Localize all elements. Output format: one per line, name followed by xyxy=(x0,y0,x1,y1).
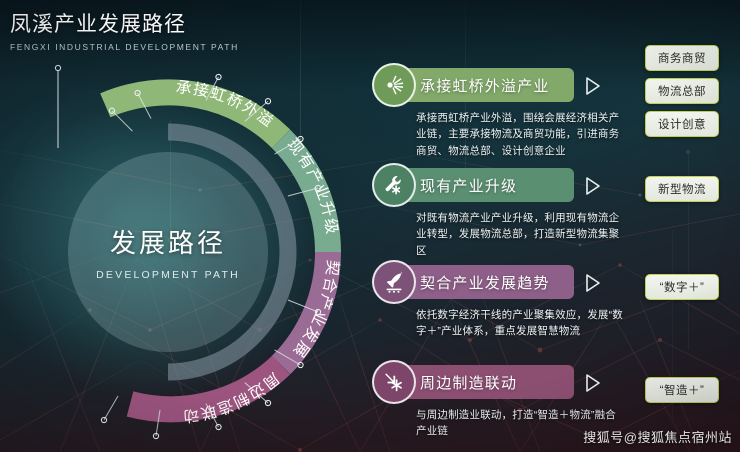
card-title-0: 承接虹桥外溢产业 xyxy=(420,75,550,96)
tag-new-logistics[interactable]: 新型物流 xyxy=(645,176,719,202)
wrench-gear-icon xyxy=(372,163,416,207)
tag-logistics-hq[interactable]: 物流总部 xyxy=(645,78,719,104)
card-header-2[interactable]: 契合产业发展趋势 xyxy=(378,265,574,299)
center-subtitle: DEVELOPMENT PATH xyxy=(96,269,240,281)
card-existing-industry-upgrade[interactable]: 现有产业升级 对既有物流产业产业升级，利用现有物流企业转型，发展物流总部，打造新… xyxy=(378,168,624,259)
card-header-1[interactable]: 现有产业升级 xyxy=(378,168,574,202)
card-title-1: 现有产业升级 xyxy=(420,175,517,196)
card-title-3: 周边制造联动 xyxy=(420,372,517,393)
tag-business-trade[interactable]: 商务商贸 xyxy=(645,45,719,71)
card-industry-trend-alignment[interactable]: 契合产业发展趋势 依托数字经济干线的产业聚集效应，发展“数字＋”产业体系，重点发… xyxy=(378,265,624,340)
center-title: 发展路径 xyxy=(110,223,226,260)
card-body-0: 承接西虹桥产业外溢，围绕会展经济相关产业链，主要承接物流及商贸功能，引进商务商贸… xyxy=(416,110,624,159)
card-header-0[interactable]: 承接虹桥外溢产业 xyxy=(378,68,574,102)
card-body-1: 对既有物流产业产业升级，利用现有物流企业转型，发展物流总部，打造新型物流集聚区 xyxy=(416,210,624,259)
tag-design-creative[interactable]: 设计创意 xyxy=(645,111,719,137)
watermark: 搜狐号@搜狐焦点宿州站 xyxy=(583,427,732,446)
infographic-canvas: 凤溪产业发展路径 FENGXI INDUSTRIAL DEVELOPMENT P… xyxy=(0,0,740,452)
arrow-in-gear-icon xyxy=(372,360,416,404)
burst-icon xyxy=(372,63,416,107)
tag-smart-manufacturing[interactable]: “智造＋” xyxy=(645,377,719,403)
arc-long-pin xyxy=(55,65,60,148)
card-title-2: 契合产业发展趋势 xyxy=(420,272,550,293)
tag-digital-plus[interactable]: “数字＋” xyxy=(645,274,719,300)
card-accept-hongqiao-spillover[interactable]: 承接虹桥外溢产业 承接西虹桥产业外溢，围绕会展经济相关产业链，主要承接物流及商贸… xyxy=(378,68,624,159)
card-header-3[interactable]: 周边制造联动 xyxy=(378,365,574,399)
rocket-trend-icon xyxy=(372,260,416,304)
center-label-group: 发展路径 DEVELOPMENT PATH xyxy=(68,152,268,352)
card-body-2: 依托数字经济干线的产业聚集效应，发展“数字＋”产业体系，重点发展智慧物流 xyxy=(416,307,624,340)
